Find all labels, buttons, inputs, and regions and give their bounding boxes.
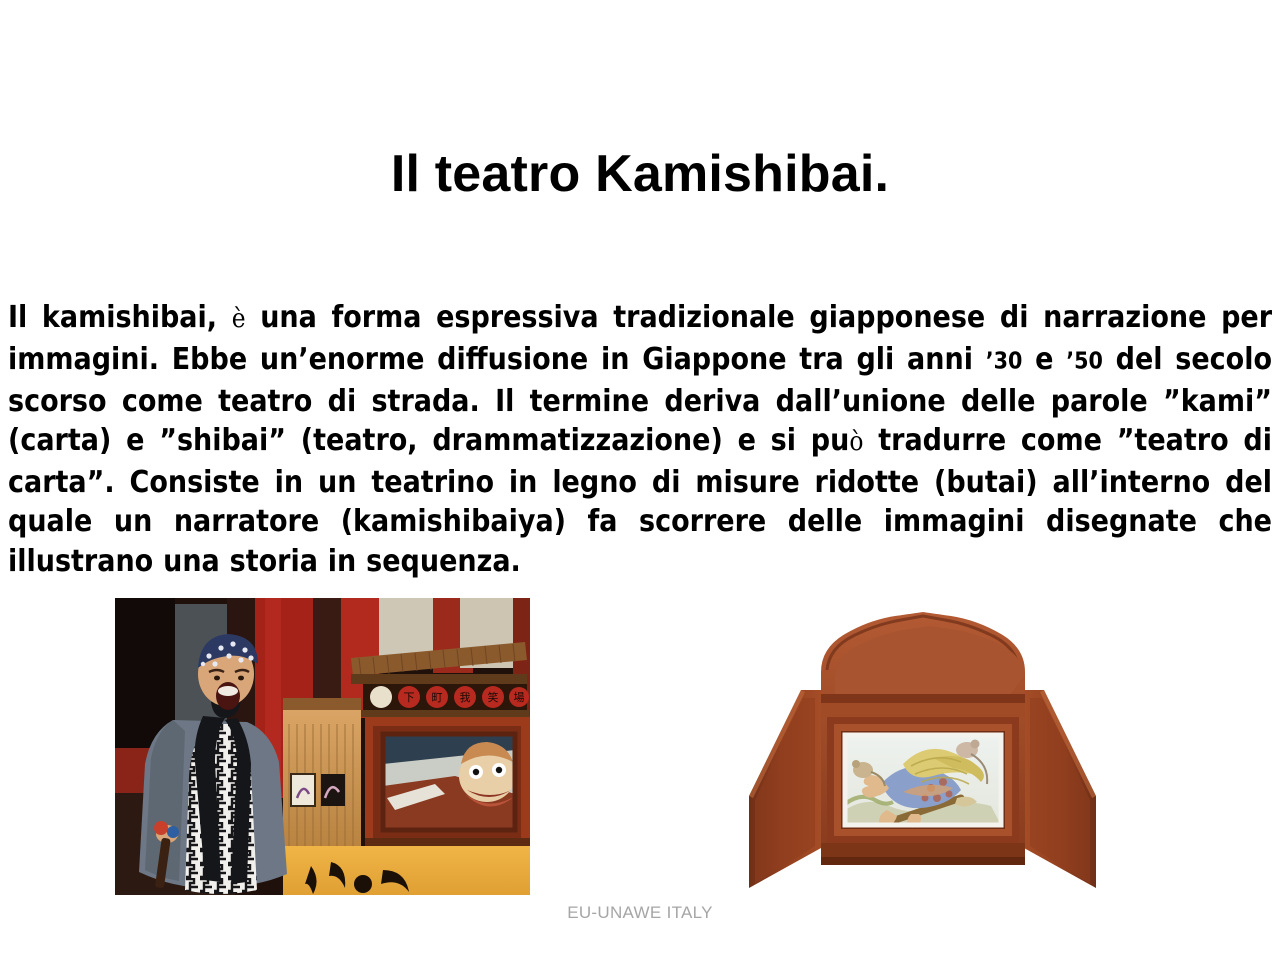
page-title: Il teatro Kamishibai. — [0, 143, 1280, 205]
svg-text:我: 我 — [460, 691, 471, 704]
presentation-slide: Il teatro Kamishibai. Il kamishibai, è u… — [0, 0, 1280, 960]
body-paragraph: Il kamishibai, è una forma espressiva tr… — [8, 298, 1272, 581]
svg-text:笑: 笑 — [488, 690, 499, 704]
body-segment-3: e — [1035, 342, 1053, 377]
photo-storyteller: 下 町 我 笑 場 — [115, 598, 530, 895]
svg-text:町: 町 — [432, 691, 443, 704]
accent-o-glyph: ò — [849, 427, 863, 457]
accent-e-glyph: è — [232, 304, 246, 334]
svg-text:場: 場 — [514, 691, 525, 704]
year-30-label: ’30 — [986, 348, 1023, 374]
svg-text:下: 下 — [404, 691, 415, 704]
photo-butai — [735, 598, 1110, 900]
photo-storyteller-graphic: 下 町 我 笑 場 — [115, 598, 530, 895]
body-segment-1: Il kamishibai, — [8, 300, 217, 335]
slide-footer: EU-UNAWE ITALY — [0, 903, 1280, 923]
year-50-label: ’50 — [1066, 348, 1103, 374]
photo-butai-graphic — [735, 598, 1110, 900]
